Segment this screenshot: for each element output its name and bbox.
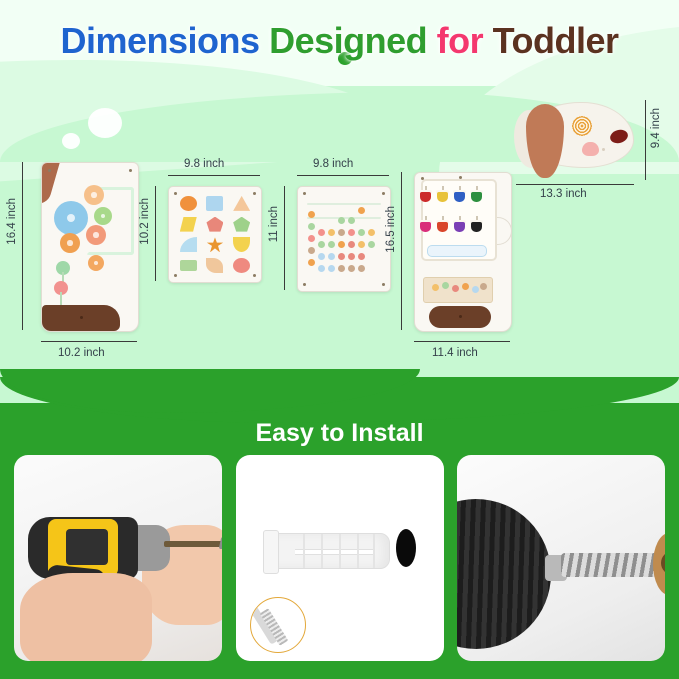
bead xyxy=(348,241,355,248)
drilled-hole xyxy=(396,529,416,567)
white-circle-large xyxy=(88,108,122,138)
screw-hole xyxy=(129,169,132,172)
lollipop-green xyxy=(56,261,70,275)
shape-square xyxy=(206,196,223,211)
bead xyxy=(328,229,335,236)
dog-head-board xyxy=(506,100,634,178)
screw-hole xyxy=(174,274,177,277)
cup-yellow xyxy=(436,187,449,202)
dimension-p2-width: 9.8 inch xyxy=(184,158,224,170)
gear-activity-board xyxy=(41,162,139,332)
shape-puzzle-board xyxy=(168,186,262,283)
bead xyxy=(368,241,375,248)
title-part-designed: Designed xyxy=(269,20,427,61)
bead xyxy=(318,229,325,236)
dog-eye xyxy=(602,148,605,151)
bead xyxy=(318,241,325,248)
cup-pink xyxy=(419,217,432,232)
screw-hole xyxy=(174,192,177,195)
bead xyxy=(338,265,345,272)
screw-hole xyxy=(459,176,462,179)
anchor-slot xyxy=(295,549,375,555)
anchor-collar xyxy=(263,530,279,574)
driver-knob xyxy=(457,499,551,649)
gear-green xyxy=(94,207,112,225)
cup-orange xyxy=(436,217,449,232)
elephant-trunk-shape xyxy=(41,162,76,207)
nail-dot xyxy=(80,316,83,319)
dimension-p2-height: 10.2 inch xyxy=(139,198,151,245)
anchor-ridge xyxy=(321,534,323,568)
drill-bit xyxy=(164,541,222,547)
wall-anchor xyxy=(272,533,390,569)
shape-quarter-circle xyxy=(180,237,197,252)
bead xyxy=(358,241,365,248)
bead xyxy=(348,217,355,224)
dimension-line-p3-height xyxy=(284,186,285,290)
gear-orange-small xyxy=(88,255,104,271)
bead xyxy=(358,229,365,236)
shape-star xyxy=(206,237,223,252)
wall-anchor-photo xyxy=(236,455,444,661)
cup-green xyxy=(470,187,483,202)
bead xyxy=(308,259,315,266)
drill-battery-panel xyxy=(66,529,108,565)
cup-body xyxy=(454,192,465,202)
bead xyxy=(442,282,449,289)
bead xyxy=(452,285,459,292)
cup-row-top xyxy=(419,187,483,205)
shape-oval xyxy=(233,258,250,273)
shape-circle xyxy=(180,196,197,211)
cup-body xyxy=(420,192,431,202)
dimension-dog-height: 9.4 inch xyxy=(650,108,662,148)
cup-body xyxy=(420,222,431,232)
bead-rail xyxy=(307,203,381,205)
screw-hole xyxy=(382,283,385,286)
shape-pentagon-green xyxy=(233,217,250,232)
shape-grid xyxy=(176,194,254,275)
dog-muzzle-patch xyxy=(582,142,599,156)
dimension-line-p4-height xyxy=(401,172,402,330)
anchor-ridge xyxy=(357,534,359,568)
bead xyxy=(328,265,335,272)
cup-body xyxy=(471,192,482,202)
page-title: Dimensions Designed for Toddler xyxy=(0,20,679,62)
bead xyxy=(338,217,345,224)
cup-blue xyxy=(453,187,466,202)
gear-salmon xyxy=(86,225,106,245)
bead-maze-board xyxy=(297,186,391,292)
wood-mount xyxy=(653,533,665,595)
screw-hole xyxy=(303,283,306,286)
bead xyxy=(328,253,335,260)
wood-hole xyxy=(661,551,665,575)
screw-driving-photo xyxy=(457,455,665,661)
drill-into-wall-photo xyxy=(14,455,222,661)
wood-base xyxy=(42,305,120,331)
bead xyxy=(368,229,375,236)
cup-body xyxy=(454,222,465,232)
bead xyxy=(348,229,355,236)
bead xyxy=(308,247,315,254)
wood-base xyxy=(429,306,491,328)
shape-pentagon-red xyxy=(206,217,223,232)
shape-leaf xyxy=(206,258,223,273)
bead xyxy=(432,284,439,291)
bead xyxy=(338,241,345,248)
gear-orange-top xyxy=(84,185,104,205)
dimension-line-p2-height xyxy=(155,186,156,281)
cup-body xyxy=(471,222,482,232)
rocket-slider-track xyxy=(427,245,487,257)
screw-hole xyxy=(303,192,306,195)
bead xyxy=(358,265,365,272)
screw-hole xyxy=(253,192,256,195)
dimension-line-dog-width xyxy=(516,184,634,185)
bead xyxy=(472,286,479,293)
hand-palm xyxy=(20,573,152,661)
install-section: Easy to Install xyxy=(0,403,679,679)
cup-body xyxy=(437,222,448,232)
dimension-line-p1-height xyxy=(22,162,23,330)
gear-blue-large xyxy=(54,201,88,235)
dimension-line-p1-width xyxy=(41,341,137,342)
install-photo-row xyxy=(14,455,665,661)
bead xyxy=(308,211,315,218)
cup-sorting-board xyxy=(414,172,512,332)
cup-black xyxy=(470,217,483,232)
dimension-p4-height: 16.5 inch xyxy=(385,206,397,253)
screw-hole xyxy=(48,169,51,172)
bead-tray xyxy=(423,277,493,303)
title-part-dimensions: Dimensions xyxy=(61,20,260,61)
dimension-line-p3-width xyxy=(297,175,389,176)
bead xyxy=(308,235,315,242)
bead xyxy=(348,253,355,260)
spiral-gear-icon xyxy=(572,116,592,136)
bead xyxy=(348,265,355,272)
dimension-p1-width: 10.2 inch xyxy=(58,347,105,359)
bead xyxy=(480,283,487,290)
dimension-p3-width: 9.8 inch xyxy=(313,158,353,170)
anchor-ridge xyxy=(339,534,341,568)
bead xyxy=(338,229,345,236)
screw-shaft xyxy=(561,553,665,577)
bead xyxy=(328,241,335,248)
bead xyxy=(338,253,345,260)
dimension-dog-width: 13.3 inch xyxy=(540,188,587,200)
bead xyxy=(358,253,365,260)
infographic-page: Dimensions Designed for Toddler 16.4 inc… xyxy=(0,0,679,679)
screw-inset-circle xyxy=(250,597,306,653)
shape-rectangle xyxy=(180,260,197,271)
install-heading: Easy to Install xyxy=(0,419,679,448)
screw-hole xyxy=(421,177,424,180)
shape-moon xyxy=(233,237,250,252)
bead xyxy=(318,265,325,272)
gear-orange-left xyxy=(60,233,80,253)
screw-hole xyxy=(382,192,385,195)
dimension-p3-height: 11 inch xyxy=(268,206,280,242)
cup-body xyxy=(437,192,448,202)
shape-parallelogram xyxy=(180,217,197,232)
bead xyxy=(358,207,365,214)
screw-hole xyxy=(253,274,256,277)
shape-triangle xyxy=(233,196,250,211)
dog-ear-front xyxy=(526,104,564,178)
cup-red xyxy=(419,187,432,202)
lollipop-pink xyxy=(54,281,68,295)
bead xyxy=(318,253,325,260)
bead xyxy=(308,223,315,230)
dimension-line-p2-width xyxy=(168,175,260,176)
dimension-line-p4-width xyxy=(414,341,510,342)
cup-purple xyxy=(453,217,466,232)
nail-dot xyxy=(459,315,462,318)
bead xyxy=(462,283,469,290)
dimension-p4-width: 11.4 inch xyxy=(432,347,478,359)
title-part-toddler: Toddler xyxy=(493,20,619,61)
white-circle-small xyxy=(62,133,80,149)
dimension-line-dog-height xyxy=(645,100,646,180)
cup-row-bottom xyxy=(419,217,483,235)
title-part-for: for xyxy=(437,20,484,61)
anchor-ridge xyxy=(303,534,305,568)
anchor-ridge xyxy=(373,534,375,568)
dimension-p1-height: 16.4 inch xyxy=(6,198,18,245)
